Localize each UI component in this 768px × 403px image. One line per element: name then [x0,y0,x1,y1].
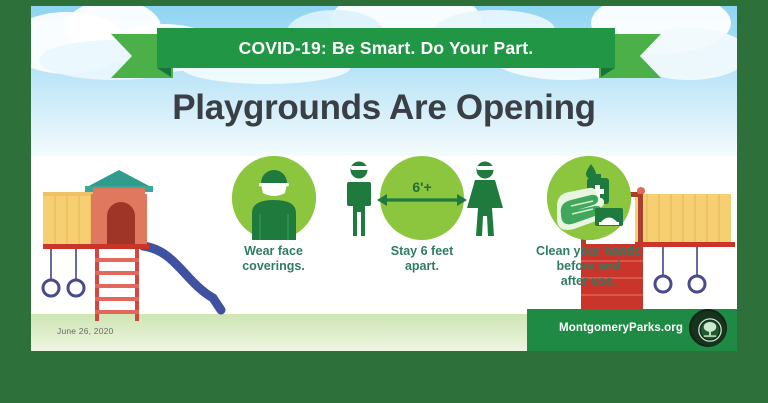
tip-wear-face-coverings: Wear face coverings. [191,156,356,274]
distance-label: 6'+ [412,179,431,195]
website-url[interactable]: MontgomeryParks.org [559,322,683,334]
social-distancing-icon: 6'+ [337,156,507,240]
tip-clean-your-hands: Clean your hands before and after use. [501,156,676,289]
ribbon-text: COVID-19: Be Smart. Do Your Part. [239,38,534,59]
masked-person-icon [232,156,316,240]
tip-caption: Wear face coverings. [191,244,356,274]
tip-caption: Clean your hands before and after use. [501,244,676,289]
covid-banner-ribbon: COVID-19: Be Smart. Do Your Part. [111,28,661,72]
covid-playground-poster: COVID-19: Be Smart. Do Your Part. Playgr… [31,6,737,351]
ribbon-center-band: COVID-19: Be Smart. Do Your Part. [157,28,615,68]
montgomery-parks-seal-icon [689,309,727,347]
tip-stay-six-feet-apart: 6'+ Stay 6 feet apart. [337,156,507,274]
page-title: Playgrounds Are Opening [31,88,737,128]
hand-sanitizer-icon [547,156,631,240]
safety-tips-row: Wear face coverings. [31,154,737,304]
poster-date: June 26, 2020 [57,326,113,336]
outer-green-frame: COVID-19: Be Smart. Do Your Part. Playgr… [0,0,768,403]
tip-caption: Stay 6 feet apart. [337,244,507,274]
